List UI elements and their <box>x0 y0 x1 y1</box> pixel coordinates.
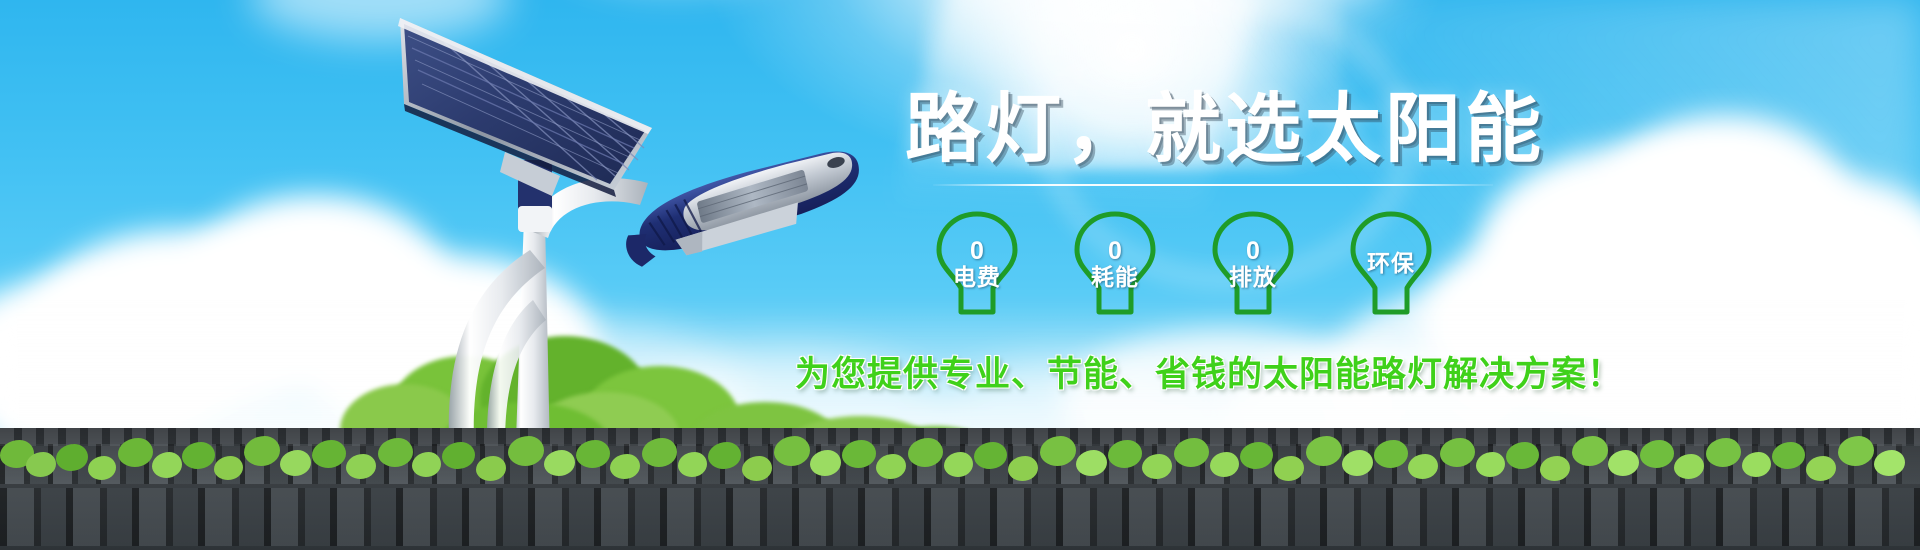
feature-badge-list: 0 电费 0 耗能 0 排放 <box>931 208 1605 320</box>
subtitle-tagline: 为您提供专业、节能、省钱的太阳能路灯解决方案！ <box>795 346 1605 397</box>
feature-badge-0-number: 0 <box>953 239 1001 265</box>
feature-badge-1-number: 0 <box>1091 239 1139 265</box>
feature-badge-1[interactable]: 0 耗能 <box>1069 208 1161 320</box>
feature-badge-0-label: 电费 <box>953 266 1001 289</box>
feature-badge-2-label: 排放 <box>1229 266 1277 289</box>
page-title: 路灯，就选太阳能 <box>905 92 1605 168</box>
solar-street-light-banner: 路灯，就选太阳能 0 电费 0 耗能 <box>0 0 1920 550</box>
feature-badge-0-text: 0 电费 <box>953 239 1001 289</box>
feature-badge-0[interactable]: 0 电费 <box>931 208 1023 320</box>
feature-badge-3-text: 环保 <box>1367 252 1415 275</box>
headline-part2: 就选太阳能 <box>1145 87 1545 172</box>
feature-badge-1-label: 耗能 <box>1091 266 1139 289</box>
title-underline-divider <box>933 184 1493 186</box>
feature-badge-1-text: 0 耗能 <box>1091 239 1139 289</box>
marketing-copy: 路灯，就选太阳能 0 电费 0 耗能 <box>905 92 1605 397</box>
wall-shading <box>0 428 1920 550</box>
feature-badge-2-text: 0 排放 <box>1229 239 1277 289</box>
feature-badge-3-label: 环保 <box>1367 252 1415 275</box>
feature-badge-2[interactable]: 0 排放 <box>1207 208 1299 320</box>
headline-part1: 路灯， <box>905 87 1145 172</box>
feature-badge-3[interactable]: 环保 <box>1345 208 1437 320</box>
feature-badge-2-number: 0 <box>1229 239 1277 265</box>
tiled-wall <box>0 428 1920 550</box>
